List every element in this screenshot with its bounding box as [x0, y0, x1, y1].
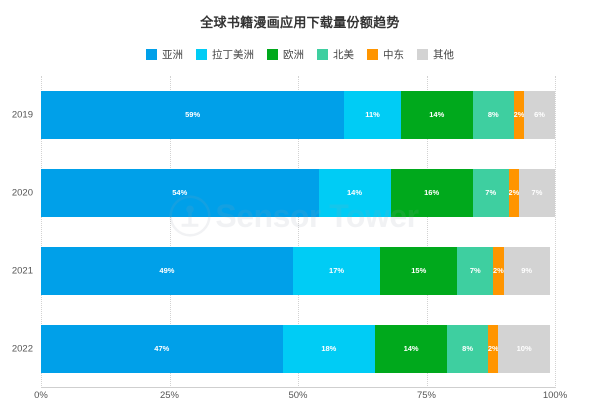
legend-item[interactable]: 欧洲 [267, 47, 304, 62]
bar-segment[interactable]: 54% [41, 169, 319, 217]
legend-item[interactable]: 北美 [317, 47, 354, 62]
bar-segment[interactable]: 7% [473, 169, 509, 217]
bar-segment-label: 14% [347, 189, 362, 197]
bar-segment-label: 49% [159, 267, 174, 275]
bar-segment[interactable]: 2% [493, 247, 503, 295]
bar-series-group: 59%11%14%8%2%6%54%14%16%7%2%7%49%17%15%7… [41, 76, 555, 388]
x-axis-labels: 0%25%50%75%100% [41, 390, 555, 410]
bar-segment-label: 54% [172, 189, 187, 197]
bar-segment[interactable]: 11% [344, 91, 401, 139]
legend-label: 其他 [433, 47, 454, 62]
legend-swatch [267, 49, 278, 60]
legend-swatch [196, 49, 207, 60]
x-axis-tick-label: 75% [417, 390, 436, 401]
plot-area: 59%11%14%8%2%6%54%14%16%7%2%7%49%17%15%7… [41, 76, 555, 388]
bar-segment[interactable]: 16% [391, 169, 473, 217]
x-axis-tick-label: 0% [34, 390, 48, 401]
bar-segment-label: 7% [532, 189, 543, 197]
bar-segment-label: 15% [411, 267, 426, 275]
x-axis-baseline [41, 387, 555, 388]
bar-segment-label: 8% [488, 111, 499, 119]
legend-label: 拉丁美洲 [212, 47, 254, 62]
legend-item[interactable]: 其他 [417, 47, 454, 62]
bar-segment-label: 14% [404, 345, 419, 353]
bar-segment-label: 6% [534, 111, 545, 119]
bar-segment-label: 16% [424, 189, 439, 197]
legend-swatch [146, 49, 157, 60]
bar-segment-label: 2% [493, 267, 503, 275]
bar-segment-label: 2% [488, 345, 498, 353]
bar-segment-label: 47% [154, 345, 169, 353]
x-axis-tick-label: 25% [160, 390, 179, 401]
gridline [555, 76, 556, 388]
bar-row: 49%17%15%7%2%9% [41, 247, 555, 295]
bar-segment[interactable]: 14% [319, 169, 391, 217]
bar-segment[interactable]: 8% [473, 91, 514, 139]
bar-row: 47%18%14%8%2%10% [41, 325, 555, 373]
y-axis-tick-label: 2019 [12, 110, 33, 121]
legend-label: 欧洲 [283, 47, 304, 62]
legend-label: 中东 [383, 47, 404, 62]
bar-segment[interactable]: 2% [488, 325, 498, 373]
bar-segment[interactable]: 15% [380, 247, 457, 295]
legend-swatch [317, 49, 328, 60]
legend-swatch [367, 49, 378, 60]
bar-segment-label: 8% [462, 345, 473, 353]
bar-segment-label: 18% [321, 345, 336, 353]
y-axis-labels: 2019202020212022 [0, 76, 38, 388]
bar-segment[interactable]: 8% [447, 325, 488, 373]
legend-label: 北美 [333, 47, 354, 62]
bar-segment-label: 2% [514, 111, 524, 119]
legend-item[interactable]: 中东 [367, 47, 404, 62]
bar-segment-label: 17% [329, 267, 344, 275]
bar-segment[interactable]: 2% [509, 169, 519, 217]
x-axis-tick-label: 100% [543, 390, 567, 401]
bar-segment-label: 7% [485, 189, 496, 197]
x-axis-tick-label: 50% [288, 390, 307, 401]
legend-item[interactable]: 亚洲 [146, 47, 183, 62]
bar-segment-label: 10% [517, 345, 532, 353]
bar-segment-label: 59% [185, 111, 200, 119]
bar-row: 59%11%14%8%2%6% [41, 91, 555, 139]
bar-row: 54%14%16%7%2%7% [41, 169, 555, 217]
bar-segment[interactable]: 7% [457, 247, 493, 295]
bar-segment[interactable]: 6% [524, 91, 555, 139]
bar-segment-label: 11% [365, 111, 380, 119]
y-axis-tick-label: 2022 [12, 344, 33, 355]
bar-segment[interactable]: 7% [519, 169, 555, 217]
bar-segment[interactable]: 17% [293, 247, 380, 295]
legend-label: 亚洲 [162, 47, 183, 62]
bar-segment[interactable]: 47% [41, 325, 283, 373]
y-axis-tick-label: 2020 [12, 188, 33, 199]
chart-legend: 亚洲拉丁美洲欧洲北美中东其他 [0, 47, 600, 62]
bar-segment[interactable]: 10% [498, 325, 549, 373]
bar-segment-label: 14% [429, 111, 444, 119]
bar-segment[interactable]: 59% [41, 91, 344, 139]
legend-item[interactable]: 拉丁美洲 [196, 47, 254, 62]
bar-segment[interactable]: 2% [514, 91, 524, 139]
bar-segment[interactable]: 49% [41, 247, 293, 295]
bar-segment-label: 2% [509, 189, 519, 197]
bar-segment-label: 7% [470, 267, 481, 275]
chart-title: 全球书籍漫画应用下载量份额趋势 [0, 12, 600, 31]
bar-segment-label: 9% [521, 267, 532, 275]
y-axis-tick-label: 2021 [12, 266, 33, 277]
bar-segment[interactable]: 14% [375, 325, 447, 373]
bar-segment[interactable]: 18% [283, 325, 376, 373]
bar-segment[interactable]: 9% [504, 247, 550, 295]
legend-swatch [417, 49, 428, 60]
chart-container: 全球书籍漫画应用下载量份额趋势 亚洲拉丁美洲欧洲北美中东其他 59%11%14%… [0, 0, 600, 416]
bar-segment[interactable]: 14% [401, 91, 473, 139]
